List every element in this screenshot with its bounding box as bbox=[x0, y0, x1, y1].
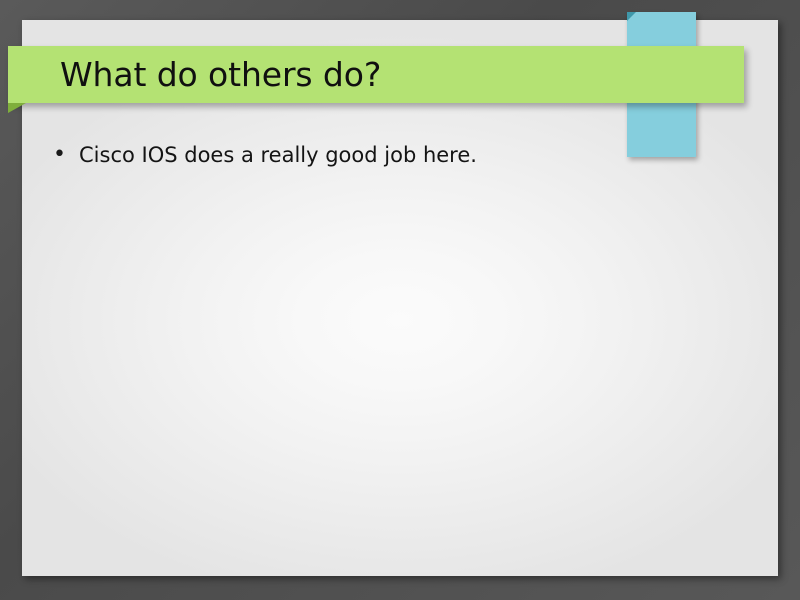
title-band: What do others do? bbox=[8, 46, 744, 103]
presentation-viewer: What do others do? • Cisco IOS does a re… bbox=[0, 0, 800, 600]
title-band-fold-icon bbox=[8, 103, 26, 113]
slide-canvas: What do others do? • Cisco IOS does a re… bbox=[22, 20, 778, 576]
slide-title: What do others do? bbox=[60, 58, 381, 91]
bullet-point-icon: • bbox=[50, 140, 79, 170]
blue-ribbon-fold-icon bbox=[627, 12, 636, 21]
